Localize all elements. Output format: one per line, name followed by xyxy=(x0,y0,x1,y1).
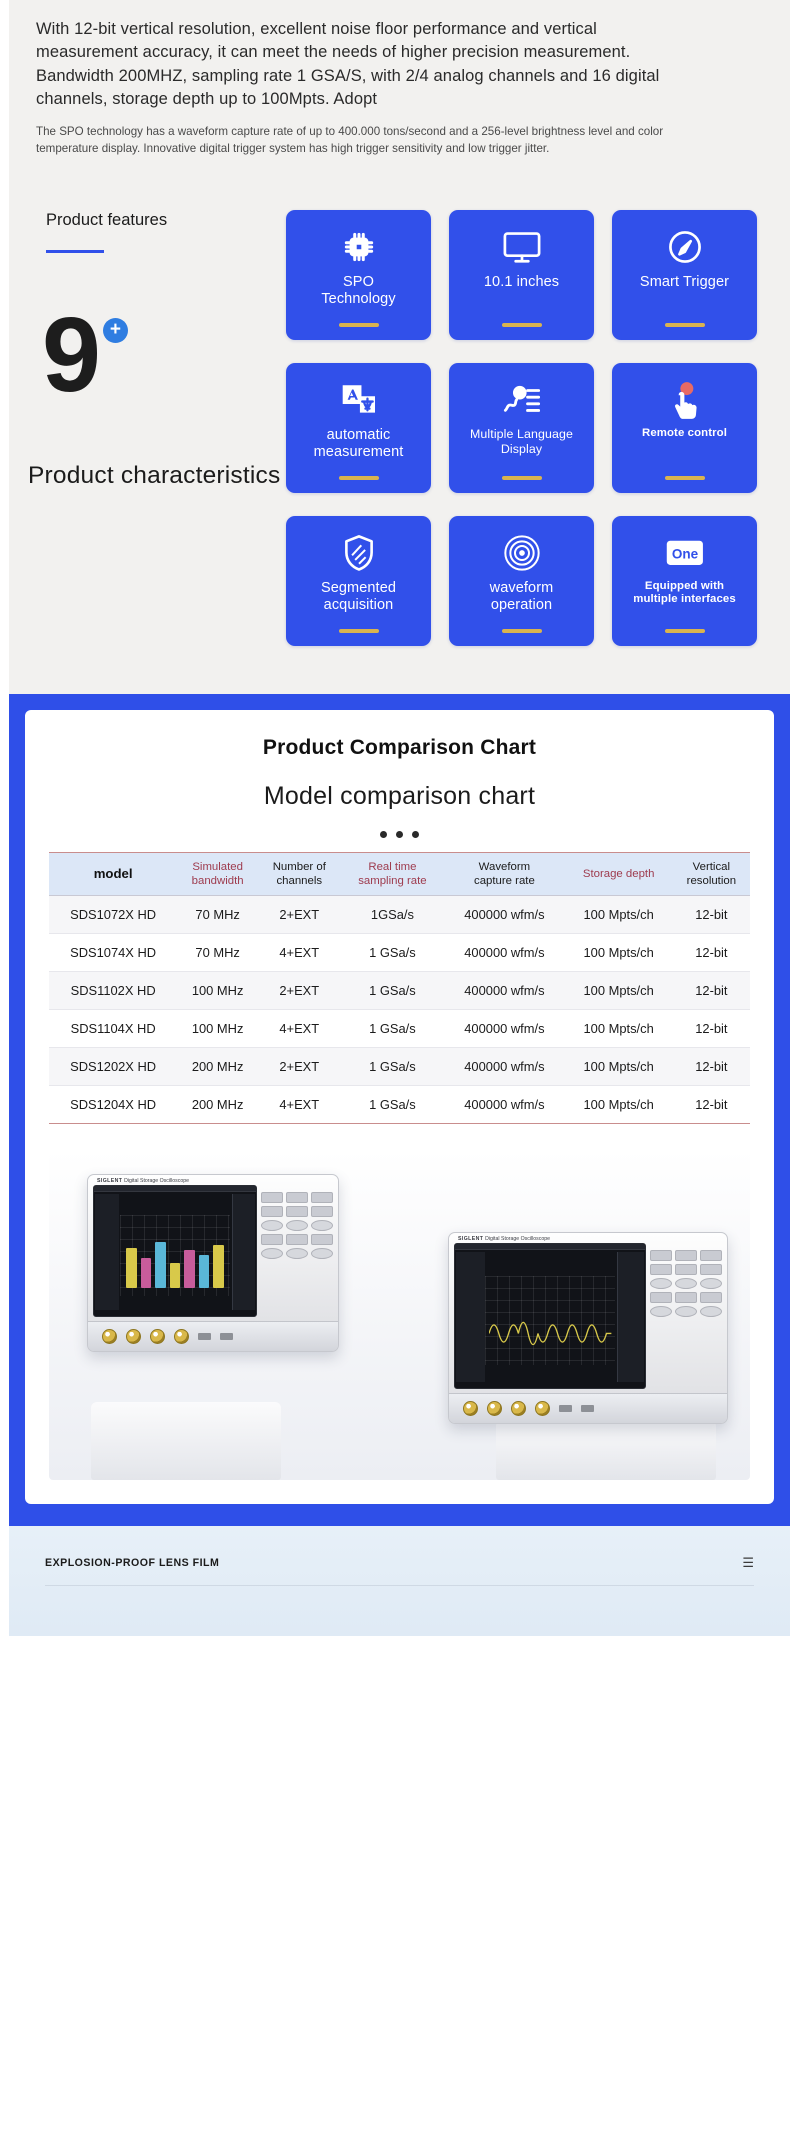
monitor-icon xyxy=(501,224,543,270)
feature-card-remote-control[interactable]: Remote control xyxy=(612,363,757,493)
cell-storage-depth: 100 Mpts/ch xyxy=(565,972,673,1010)
feature-row-2: automaticmeasurement Multiple LanguageDi… xyxy=(0,363,790,493)
oscilloscope-left: SIGLENT Digital Storage Oscilloscope xyxy=(87,1174,339,1352)
knob xyxy=(261,1206,283,1217)
screen-waveform-bars xyxy=(126,1223,223,1288)
bnc-connector xyxy=(487,1401,502,1416)
scope-body-right xyxy=(449,1243,727,1393)
brand-subtitle: Digital Storage Oscilloscope xyxy=(124,1178,189,1184)
feature-card-multiple-interfaces[interactable]: One Equipped withmultiple interfaces xyxy=(612,516,757,646)
feature-card-label: Segmentedacquisition xyxy=(321,580,396,614)
cell-bandwidth: 200 MHz xyxy=(177,1048,258,1086)
product-page: With 12-bit vertical resolution, excelle… xyxy=(0,0,790,1636)
translate-icon xyxy=(339,377,379,423)
knob xyxy=(675,1278,697,1289)
knob xyxy=(650,1264,672,1275)
feature-card-waveform-operation[interactable]: waveformoperation xyxy=(449,516,594,646)
bar xyxy=(213,1245,223,1288)
column-header-storage-depth: Storage depth xyxy=(565,852,673,896)
cell-channels: 4+EXT xyxy=(258,934,341,972)
cell-bandwidth: 100 MHz xyxy=(177,972,258,1010)
feature-card-smart-trigger[interactable]: Smart Trigger xyxy=(612,210,757,340)
cell-bandwidth: 100 MHz xyxy=(177,1010,258,1048)
card-underline xyxy=(665,323,705,327)
cell-storage-depth: 100 Mpts/ch xyxy=(565,896,673,934)
cell-vertical-resolution: 12-bit xyxy=(673,896,750,934)
cell-capture-rate: 400000 wfm/s xyxy=(444,1086,564,1124)
cell-vertical-resolution: 12-bit xyxy=(673,1010,750,1048)
knob xyxy=(650,1306,672,1317)
dot xyxy=(380,831,387,838)
scope-knob-panel-right xyxy=(650,1243,722,1389)
knob xyxy=(261,1234,283,1245)
column-header-number-of-channels: Number ofchannels xyxy=(258,852,341,896)
card-underline xyxy=(339,629,379,633)
cell-storage-depth: 100 Mpts/ch xyxy=(565,1086,673,1124)
bar xyxy=(155,1242,165,1288)
cell-sampling-rate: 1 GSa/s xyxy=(341,1048,445,1086)
column-header-real-time-sampling-rate: Real timesampling rate xyxy=(341,852,445,896)
feature-card-label: Equipped withmultiple interfaces xyxy=(633,580,736,607)
oscilloscope-right: SIGLENT Digital Storage Oscilloscope xyxy=(448,1232,728,1424)
cell-capture-rate: 400000 wfm/s xyxy=(444,1010,564,1048)
feature-card-label: Smart Trigger xyxy=(640,274,729,291)
footer-spacer xyxy=(45,1586,754,1612)
card-underline xyxy=(502,323,542,327)
knob xyxy=(675,1306,697,1317)
knob xyxy=(286,1234,308,1245)
knob xyxy=(261,1248,283,1259)
feature-row-1: SPOTechnology 10.1 inches xyxy=(0,210,790,340)
table-row: SDS1204X HD 200 MHz 4+EXT 1 GSa/s 400000… xyxy=(49,1086,750,1124)
features-section: Product features 9 + Product characteris… xyxy=(0,164,790,694)
table-row: SDS1072X HD 70 MHz 2+EXT 1GSa/s 400000 w… xyxy=(49,896,750,934)
bar xyxy=(126,1248,136,1288)
scope-screen-left xyxy=(93,1185,257,1317)
knob xyxy=(311,1192,333,1203)
brand-subtitle: Digital Storage Oscilloscope xyxy=(485,1236,550,1242)
screen-topbar xyxy=(455,1244,645,1250)
knob xyxy=(700,1292,722,1303)
bnc-connector xyxy=(126,1329,141,1344)
knob xyxy=(261,1220,283,1231)
comparison-section: Product Comparison Chart Model compariso… xyxy=(9,694,790,1527)
feature-card-segmented-acquisition[interactable]: Segmentedacquisition xyxy=(286,516,431,646)
cell-vertical-resolution: 12-bit xyxy=(673,972,750,1010)
scope-knob-panel-left xyxy=(261,1185,333,1317)
scope-connector-panel-left xyxy=(88,1321,338,1351)
cell-capture-rate: 400000 wfm/s xyxy=(444,934,564,972)
feature-card-label: automaticmeasurement xyxy=(314,427,404,461)
feature-card-automatic-measurement[interactable]: automaticmeasurement xyxy=(286,363,431,493)
cell-vertical-resolution: 12-bit xyxy=(673,1048,750,1086)
column-header-vertical-resolution: Verticalresolution xyxy=(673,852,750,896)
cell-channels: 2+EXT xyxy=(258,1048,341,1086)
card-underline xyxy=(665,476,705,480)
brand-label-right: SIGLENT Digital Storage Oscilloscope xyxy=(449,1233,727,1243)
comparison-subtitle: Model comparison chart xyxy=(49,782,750,811)
knob xyxy=(311,1248,333,1259)
knob xyxy=(650,1278,672,1289)
cell-model: SDS1102X HD xyxy=(49,972,177,1010)
product-photo: SIGLENT Digital Storage Oscilloscope xyxy=(49,1150,750,1480)
feature-card-spo-technology[interactable]: SPOTechnology xyxy=(286,210,431,340)
table-row: SDS1102X HD 100 MHz 2+EXT 1 GSa/s 400000… xyxy=(49,972,750,1010)
knob xyxy=(675,1250,697,1261)
cell-sampling-rate: 1 GSa/s xyxy=(341,934,445,972)
table-header: model Simulatedbandwidth Number ofchanne… xyxy=(49,852,750,896)
knob xyxy=(700,1250,722,1261)
cell-model: SDS1074X HD xyxy=(49,934,177,972)
intro-section: With 12-bit vertical resolution, excelle… xyxy=(0,0,790,164)
cell-sampling-rate: 1 GSa/s xyxy=(341,1086,445,1124)
knob xyxy=(311,1206,333,1217)
cell-bandwidth: 200 MHz xyxy=(177,1086,258,1124)
bnc-connector xyxy=(511,1401,526,1416)
gauge-icon xyxy=(666,224,704,270)
cell-model: SDS1072X HD xyxy=(49,896,177,934)
knob xyxy=(286,1248,308,1259)
language-gear-icon xyxy=(501,377,543,423)
dot-separator xyxy=(49,831,750,838)
svg-text:One: One xyxy=(671,547,698,562)
knob xyxy=(700,1264,722,1275)
cell-capture-rate: 400000 wfm/s xyxy=(444,896,564,934)
cell-model: SDS1204X HD xyxy=(49,1086,177,1124)
chip-icon xyxy=(340,224,378,270)
card-underline xyxy=(665,629,705,633)
cell-sampling-rate: 1 GSa/s xyxy=(341,972,445,1010)
pedestal-right xyxy=(496,1420,716,1480)
usb-port xyxy=(581,1405,594,1412)
bar xyxy=(141,1258,151,1288)
cell-vertical-resolution: 12-bit xyxy=(673,1086,750,1124)
column-header-simulated-bandwidth: Simulatedbandwidth xyxy=(177,852,258,896)
cell-storage-depth: 100 Mpts/ch xyxy=(565,934,673,972)
column-header-waveform-capture-rate: Waveformcapture rate xyxy=(444,852,564,896)
one-port-icon: One xyxy=(663,530,707,576)
feature-card-label: 10.1 inches xyxy=(484,274,559,291)
cell-channels: 2+EXT xyxy=(258,896,341,934)
screen-side-panel xyxy=(617,1252,644,1382)
cell-channels: 2+EXT xyxy=(258,972,341,1010)
cell-capture-rate: 400000 wfm/s xyxy=(444,1048,564,1086)
cell-bandwidth: 70 MHz xyxy=(177,934,258,972)
comparison-table: model Simulatedbandwidth Number ofchanne… xyxy=(49,852,750,1125)
cell-channels: 4+EXT xyxy=(258,1010,341,1048)
cell-sampling-rate: 1GSa/s xyxy=(341,896,445,934)
knob xyxy=(261,1192,283,1203)
cell-capture-rate: 400000 wfm/s xyxy=(444,972,564,1010)
waveform-radar-icon xyxy=(502,530,542,576)
bnc-connector xyxy=(174,1329,189,1344)
knob xyxy=(311,1234,333,1245)
card-underline xyxy=(502,476,542,480)
column-header-model: model xyxy=(49,852,177,896)
comparison-title: Product Comparison Chart xyxy=(49,736,750,760)
bnc-connector xyxy=(535,1401,550,1416)
knob xyxy=(286,1206,308,1217)
footer-row: EXPLOSION-PROOF LENS FILM ☰ xyxy=(45,1556,754,1586)
comparison-panel: Product Comparison Chart Model compariso… xyxy=(25,710,774,1505)
cell-storage-depth: 100 Mpts/ch xyxy=(565,1048,673,1086)
usb-port xyxy=(198,1333,211,1340)
intro-sub-paragraph: The SPO technology has a waveform captur… xyxy=(36,123,696,158)
knob xyxy=(675,1264,697,1275)
bar xyxy=(170,1263,180,1288)
knob xyxy=(286,1220,308,1231)
cell-bandwidth: 70 MHz xyxy=(177,896,258,934)
screen-topbar xyxy=(94,1186,256,1192)
card-underline xyxy=(339,476,379,480)
cell-model: SDS1104X HD xyxy=(49,1010,177,1048)
feature-card-label: Remote control xyxy=(642,427,727,440)
brand-label-left: SIGLENT Digital Storage Oscilloscope xyxy=(88,1175,338,1185)
table-row: SDS1104X HD 100 MHz 4+EXT 1 GSa/s 400000… xyxy=(49,1010,750,1048)
bnc-connector xyxy=(150,1329,165,1344)
knob xyxy=(700,1278,722,1289)
table-header-row: model Simulatedbandwidth Number ofchanne… xyxy=(49,852,750,896)
screen-side-panel xyxy=(232,1194,255,1310)
bnc-connector xyxy=(463,1401,478,1416)
knob xyxy=(650,1250,672,1261)
screen-left-panel xyxy=(456,1252,485,1382)
card-underline xyxy=(502,629,542,633)
knob xyxy=(650,1292,672,1303)
scope-connector-panel-right xyxy=(449,1393,727,1423)
knob xyxy=(700,1306,722,1317)
usb-port xyxy=(559,1405,572,1412)
cell-channels: 4+EXT xyxy=(258,1086,341,1124)
bar xyxy=(199,1255,209,1288)
shield-icon xyxy=(340,530,378,576)
pedestal-left xyxy=(91,1402,281,1480)
intro-lead-paragraph: With 12-bit vertical resolution, excelle… xyxy=(36,18,696,112)
brand-name: SIGLENT xyxy=(97,1178,122,1184)
feature-row-3: Segmentedacquisition waveformoperation xyxy=(0,516,790,646)
bar xyxy=(184,1250,194,1288)
hamburger-icon[interactable]: ☰ xyxy=(742,1556,754,1569)
dot xyxy=(412,831,419,838)
table-row: SDS1202X HD 200 MHz 2+EXT 1 GSa/s 400000… xyxy=(49,1048,750,1086)
dot xyxy=(396,831,403,838)
screen-left-panel xyxy=(95,1194,119,1310)
brand-name: SIGLENT xyxy=(458,1236,483,1242)
footer-title: EXPLOSION-PROOF LENS FILM xyxy=(45,1557,219,1569)
cell-storage-depth: 100 Mpts/ch xyxy=(565,1010,673,1048)
usb-port xyxy=(220,1333,233,1340)
cell-sampling-rate: 1 GSa/s xyxy=(341,1010,445,1048)
knob xyxy=(311,1220,333,1231)
feature-card-label: waveformoperation xyxy=(490,580,554,614)
feature-card-multiple-language-display[interactable]: Multiple LanguageDisplay xyxy=(449,363,594,493)
table-row: SDS1074X HD 70 MHz 4+EXT 1 GSa/s 400000 … xyxy=(49,934,750,972)
screen-waveform-trace xyxy=(489,1309,611,1358)
feature-card-label: SPOTechnology xyxy=(321,274,395,308)
scope-screen-right xyxy=(454,1243,646,1389)
feature-card-label: Multiple LanguageDisplay xyxy=(470,427,573,456)
footer-section: EXPLOSION-PROOF LENS FILM ☰ xyxy=(9,1526,790,1636)
table-body: SDS1072X HD 70 MHz 2+EXT 1GSa/s 400000 w… xyxy=(49,896,750,1124)
scope-body-left xyxy=(88,1185,338,1321)
knob xyxy=(675,1292,697,1303)
card-underline xyxy=(339,323,379,327)
bnc-connector xyxy=(102,1329,117,1344)
feature-card-screen-size[interactable]: 10.1 inches xyxy=(449,210,594,340)
cell-model: SDS1202X HD xyxy=(49,1048,177,1086)
cell-vertical-resolution: 12-bit xyxy=(673,934,750,972)
knob xyxy=(286,1192,308,1203)
hand-touch-icon xyxy=(666,377,704,423)
